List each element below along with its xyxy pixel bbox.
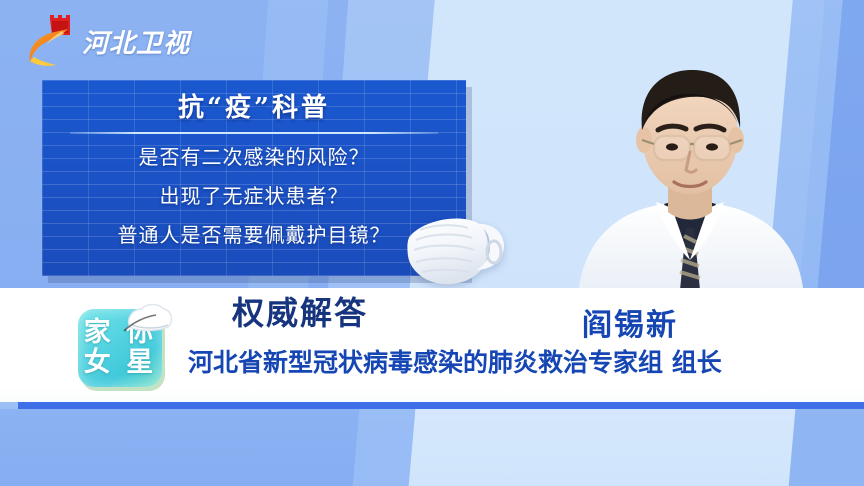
doctor-portrait <box>560 58 820 298</box>
great-wall-tower-ribbon-logo-icon <box>22 13 80 69</box>
guest-role: 河北省新型冠状病毒感染的肺炎救治专家组 组长 <box>188 343 722 379</box>
guest-name: 阎锡新 <box>582 300 678 344</box>
chef-hat-icon <box>122 301 174 335</box>
footer-panel-light <box>409 408 816 486</box>
headline-authority-answer: 权威解答 <box>232 288 368 334</box>
lower-third-banner: 家 你 女 星 权威解答 阎锡新 河北省新型冠状病毒感染的肺炎救治专家组 组长 <box>0 288 864 402</box>
channel-logo: 河北卫视 <box>22 10 222 72</box>
footer-panel-right-accent <box>789 408 864 486</box>
program-badge: 家 你 女 星 <box>78 305 166 389</box>
face-mask-icon <box>404 212 512 290</box>
question-item-2: 出现了无症状患者？ <box>42 177 466 216</box>
footer-rule <box>12 402 864 409</box>
question-card: 抗“疫”科普 是否有二次感染的风险？ 出现了无症状患者？ 普通人是否需要佩戴护目… <box>42 80 466 276</box>
question-card-title: 抗“疫”科普 <box>42 90 466 126</box>
question-item-3: 普通人是否需要佩戴护目镜？ <box>42 216 466 255</box>
broadcast-frame: 河北卫视 抗“疫”科普 是否有二次感染的风险？ 出现了无症状患者？ 普通人是否需… <box>0 0 864 486</box>
channel-name: 河北卫视 <box>82 23 190 60</box>
program-badge-line-2: 女 星 <box>84 348 156 378</box>
question-item-1: 是否有二次感染的风险？ <box>42 138 466 177</box>
footer-strip <box>0 402 864 486</box>
question-card-divider <box>70 132 438 134</box>
footer-rule-cap <box>0 402 18 409</box>
